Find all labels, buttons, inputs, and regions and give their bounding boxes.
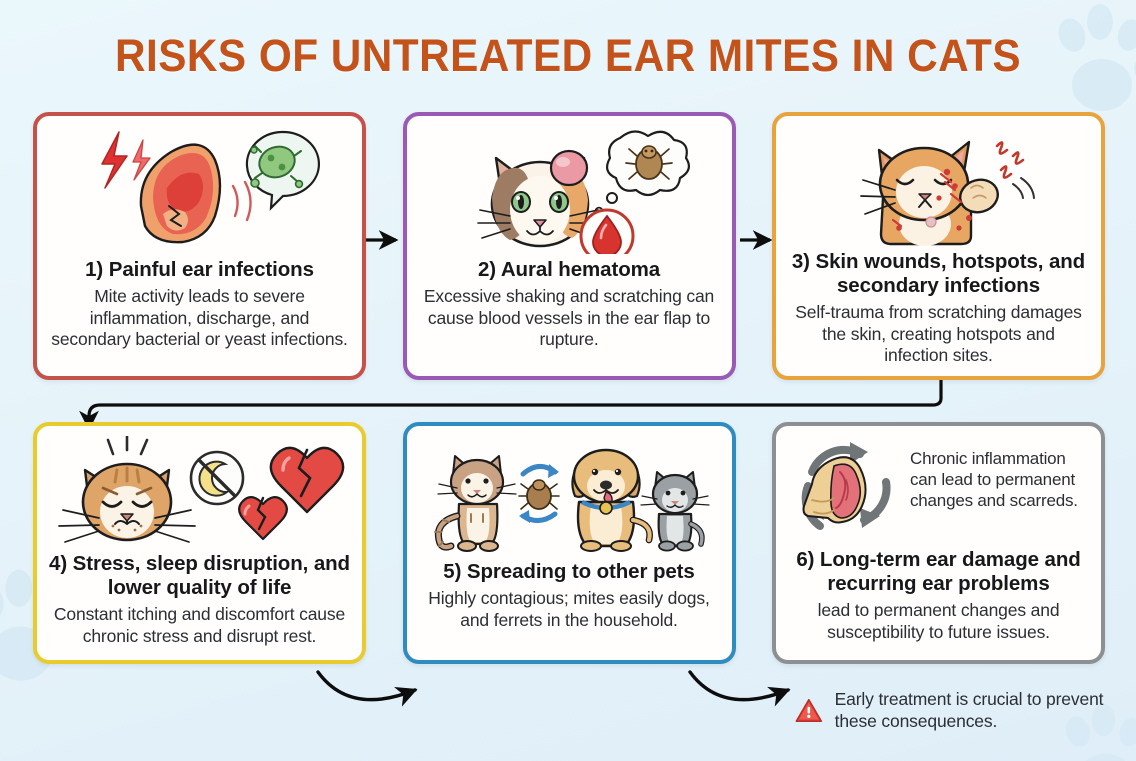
card-body: Excessive shaking and scratching can cau…: [419, 286, 720, 351]
risk-card-3[interactable]: 3) Skin wounds, hotspots, and secondary …: [772, 112, 1105, 380]
risk-card-2[interactable]: 2) Aural hematoma Excessive shaking and …: [403, 112, 736, 380]
card-title: 2) Aural hematoma: [478, 258, 660, 282]
card-body: Constant itching and discomfort cause ch…: [49, 604, 350, 647]
risk-card-5[interactable]: 5) Spreading to other pets Highly contag…: [403, 422, 736, 664]
card-body: Self-trauma from scratching damages the …: [788, 302, 1089, 367]
card-body: lead to permanent changes and susceptibi…: [788, 600, 1089, 643]
card-title: 5) Spreading to other pets: [443, 560, 694, 584]
early-treatment-note: Early treatment is crucial to prevent th…: [795, 688, 1136, 732]
calico-cat-swollen-ear-icon: [444, 126, 694, 254]
risk-card-1[interactable]: 1) Painful ear infections Mite activity …: [33, 112, 366, 380]
card-title: 3) Skin wounds, hotspots, and secondary …: [788, 250, 1089, 298]
card-title: 1) Painful ear infections: [85, 258, 314, 282]
warning-triangle-icon: [795, 692, 823, 729]
card-title: 6) Long-term ear damage and recurring ea…: [788, 548, 1089, 596]
ear-cross-section-recurrence-icon: [790, 438, 902, 542]
inflamed-ear-with-bacteria-icon: [75, 126, 325, 254]
risk-cards-grid: 1) Painful ear infections Mite activity …: [33, 112, 1105, 664]
card-body: Highly contagious; mites easily dogs, an…: [419, 588, 720, 631]
scratching-cat-icon: [821, 126, 1056, 246]
early-treatment-note-text: Early treatment is crucial to prevent th…: [835, 688, 1136, 732]
card-body: Mite activity leads to severe inflammati…: [49, 286, 350, 351]
curved-arrow-up-right-icon: [690, 672, 788, 700]
card-6-side-text: Chronic inflammation can lead to permane…: [910, 438, 1085, 511]
page-title: RISKS OF UNTREATED EAR MITES IN CATS: [34, 30, 1102, 82]
stressed-cat-no-sleep-broken-hearts-icon: [55, 436, 345, 548]
cat-dog-cat-mite-transfer-icon: [427, 436, 712, 556]
card-6-top-row: Chronic inflammation can lead to permane…: [788, 436, 1089, 542]
card-title: 4) Stress, sleep disruption, and lower q…: [49, 552, 350, 600]
risk-card-4[interactable]: 4) Stress, sleep disruption, and lower q…: [33, 422, 366, 664]
curved-arrow-up-right-icon: [318, 672, 415, 700]
risk-card-6[interactable]: Chronic inflammation can lead to permane…: [772, 422, 1105, 664]
